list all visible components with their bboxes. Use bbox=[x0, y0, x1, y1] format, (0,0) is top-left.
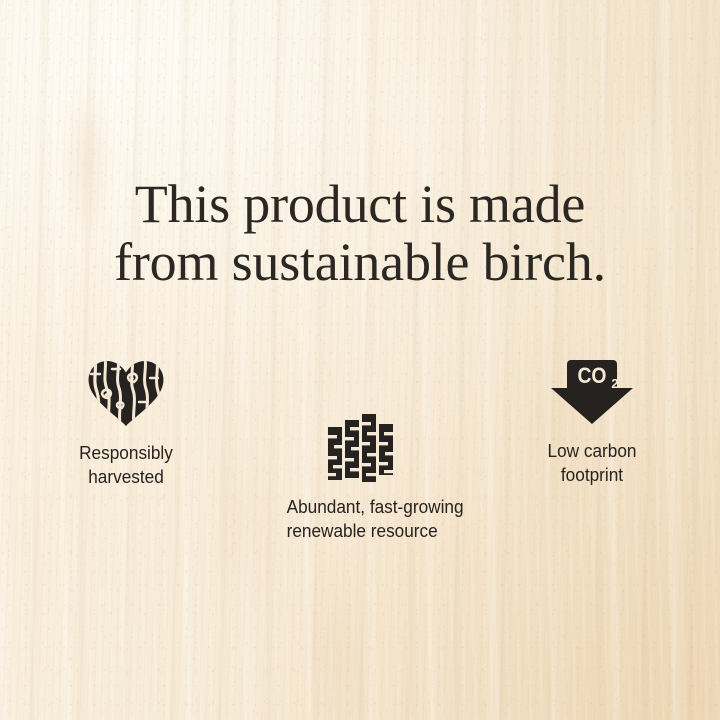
page-title: This product is made from sustainable bi… bbox=[0, 176, 720, 292]
feature-caption: Responsibly harvested bbox=[52, 441, 201, 488]
feature-icon-slot bbox=[281, 414, 441, 482]
stacked-logs-icon bbox=[328, 414, 394, 482]
page-title-line-2: from sustainable birch. bbox=[0, 234, 720, 292]
feature-caption-line-2: footprint bbox=[518, 463, 667, 487]
feature-responsibly-harvested: Responsibly harvested bbox=[46, 358, 206, 488]
feature-caption-line-1: Responsibly bbox=[52, 441, 201, 465]
feature-caption-line-1: Abundant, fast-growing bbox=[287, 495, 436, 519]
co2-down-arrow-icon: CO 2 bbox=[547, 358, 637, 426]
co2-label: CO bbox=[577, 364, 606, 388]
poster-content: This product is made from sustainable bi… bbox=[0, 0, 720, 720]
feature-caption-line-2: renewable resource bbox=[287, 519, 436, 543]
feature-icon-slot bbox=[46, 358, 206, 428]
feature-low-carbon-footprint: CO 2 Low carbon footprint bbox=[512, 358, 672, 486]
co2-subscript: 2 bbox=[611, 376, 618, 391]
feature-caption-line-2: harvested bbox=[52, 465, 201, 489]
feature-caption: Abundant, fast-growing renewable resourc… bbox=[287, 495, 436, 542]
feature-caption: Low carbon footprint bbox=[518, 439, 667, 486]
feature-list: Responsibly harvested bbox=[0, 352, 720, 582]
feature-caption-line-1: Low carbon bbox=[518, 439, 667, 463]
wood-grain-heart-icon bbox=[86, 358, 166, 428]
feature-icon-slot: CO 2 bbox=[512, 358, 672, 426]
feature-renewable-resource: Abundant, fast-growing renewable resourc… bbox=[281, 414, 441, 542]
page-title-line-1: This product is made bbox=[0, 176, 720, 234]
